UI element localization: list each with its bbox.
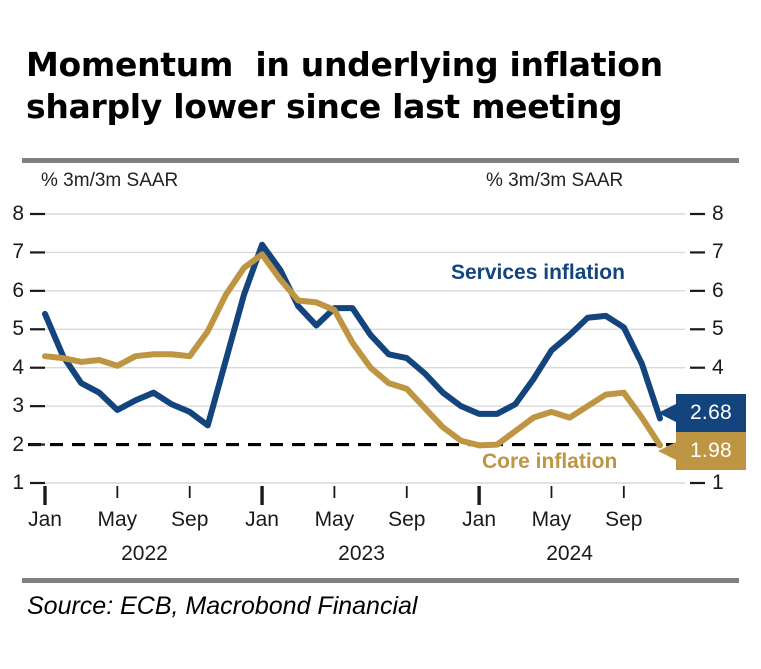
- y-axis-tick-marks-left: [30, 214, 45, 483]
- y-axis-tick-right-5: 5: [712, 318, 734, 339]
- series-label-core: Core inflation: [482, 450, 617, 474]
- callout-tail-core: [658, 442, 676, 460]
- y-axis-unit-right: % 3m/3m SAAR: [486, 170, 623, 192]
- y-axis-tick-left-1: 1: [2, 472, 24, 493]
- gridlines: [42, 214, 685, 483]
- x-axis-tick-2023-05: May: [299, 509, 369, 530]
- footer-divider: [22, 578, 739, 583]
- callout-services-value: 2.68: [676, 394, 746, 432]
- source-note: Source: ECB, Macrobond Financial: [27, 592, 417, 621]
- x-axis-tick-2024-01: Jan: [444, 509, 514, 530]
- x-axis-tick-2022-09: Sep: [155, 509, 225, 530]
- y-axis-tick-right-1: 1: [712, 472, 734, 493]
- y-axis-tick-right-8: 8: [712, 203, 734, 224]
- x-axis-tick-2022-05: May: [82, 509, 152, 530]
- callout-core-value: 1.98: [676, 432, 746, 470]
- y-axis-tick-left-7: 7: [2, 241, 24, 262]
- header-divider: [22, 158, 739, 163]
- y-axis-tick-left-4: 4: [2, 357, 24, 378]
- series-label-services: Services inflation: [451, 261, 625, 285]
- page-title: Momentum in underlying inflation sharply…: [26, 44, 726, 128]
- x-axis-year-2024: 2024: [525, 543, 615, 564]
- x-axis-tick-2024-09: Sep: [589, 509, 659, 530]
- y-axis-tick-left-3: 3: [2, 395, 24, 416]
- x-axis-tick-2023-01: Jan: [227, 509, 297, 530]
- x-axis-tick-marks: [45, 486, 624, 505]
- x-axis-tick-2022-01: Jan: [10, 509, 80, 530]
- x-axis-year-2023: 2023: [317, 543, 407, 564]
- x-axis-tick-2023-09: Sep: [372, 509, 442, 530]
- y-axis-tick-left-5: 5: [2, 318, 24, 339]
- y-axis-tick-left-2: 2: [2, 434, 24, 455]
- y-axis-tick-right-4: 4: [712, 357, 734, 378]
- chart-page: Momentum in underlying inflation sharply…: [0, 0, 761, 669]
- callout-tail-services: [658, 404, 676, 422]
- y-axis-tick-right-6: 6: [712, 280, 734, 301]
- y-axis-tick-right-7: 7: [712, 241, 734, 262]
- y-axis-unit-left: % 3m/3m SAAR: [41, 170, 178, 192]
- title-line-1: Momentum in underlying inflation: [26, 44, 726, 86]
- x-axis-tick-2024-05: May: [516, 509, 586, 530]
- y-axis-tick-left-8: 8: [2, 203, 24, 224]
- x-axis-year-2022: 2022: [99, 543, 189, 564]
- title-line-2: sharply lower since last meeting: [26, 86, 726, 128]
- y-axis-tick-left-6: 6: [2, 280, 24, 301]
